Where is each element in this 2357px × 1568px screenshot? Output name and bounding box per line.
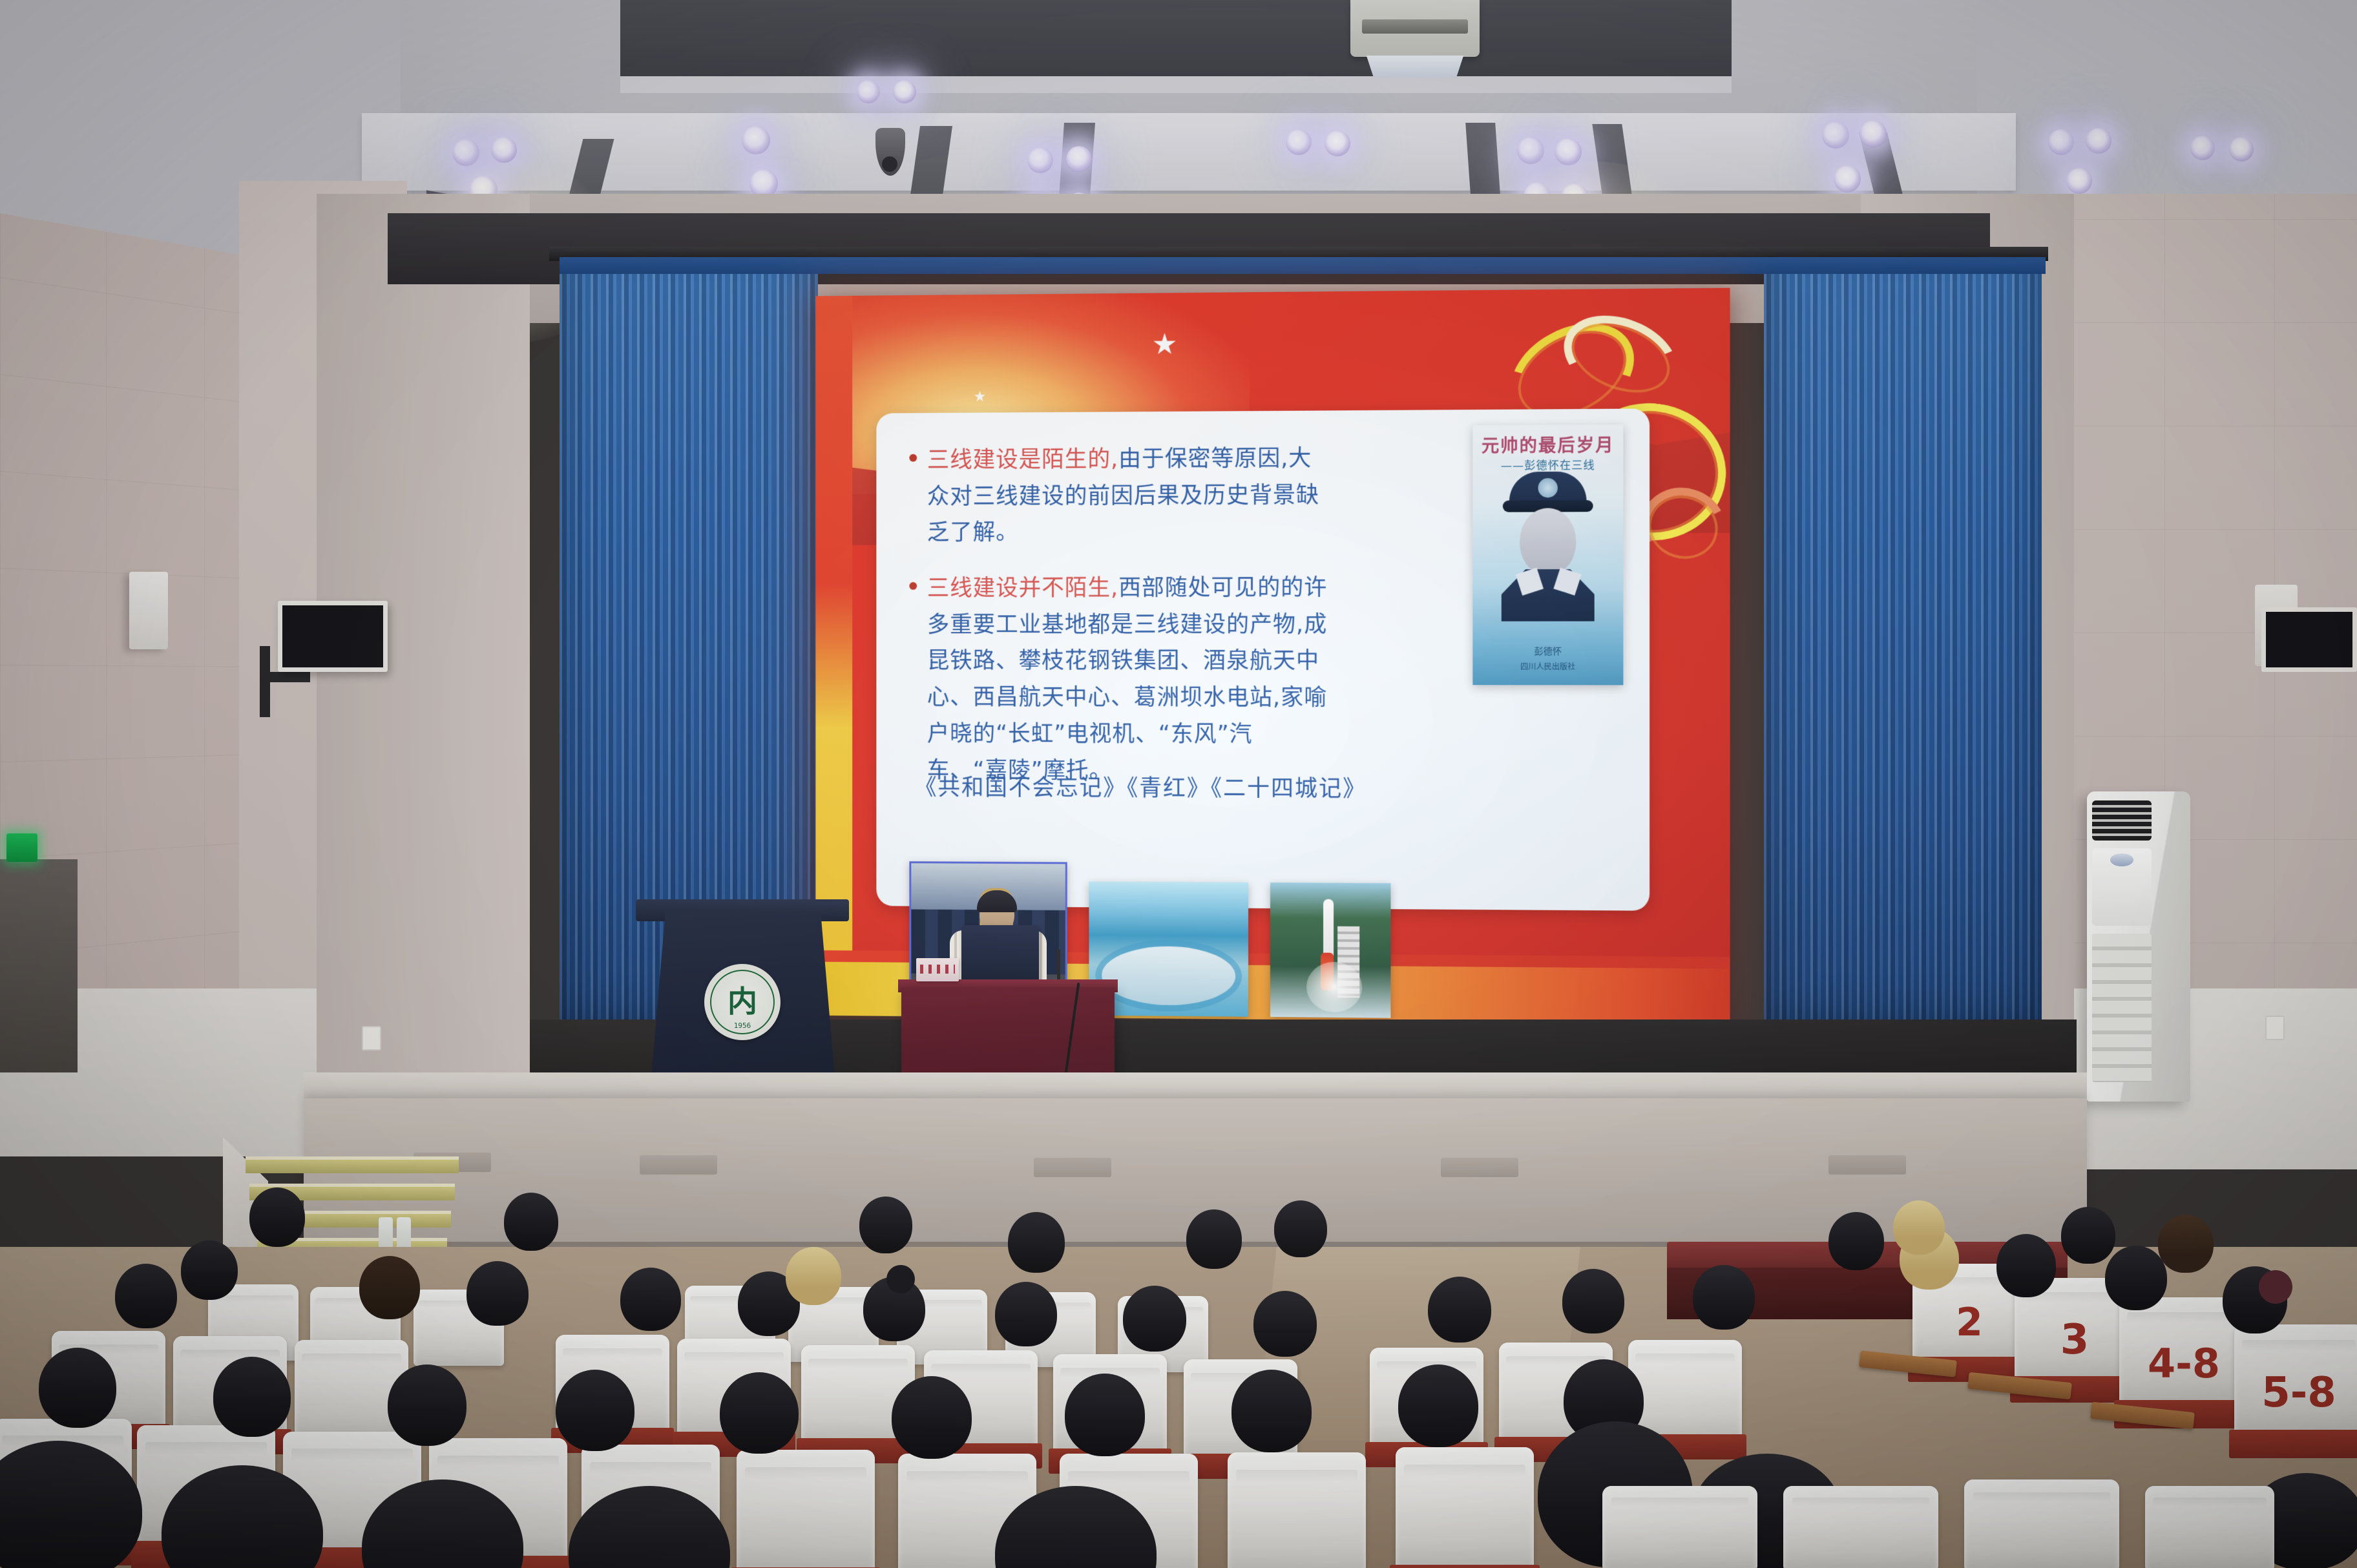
wall-socket[interactable] [2265, 1016, 2285, 1040]
exit-sign-icon [6, 833, 37, 862]
audience-head [1186, 1209, 1242, 1269]
emblem-character: 内 [704, 978, 780, 1021]
poster-portrait [1499, 472, 1597, 622]
ceiling-downlight [1027, 147, 1053, 173]
seat-number: 2 [1912, 1300, 2026, 1345]
bullet-2-text: 西部随处可见的的许多重要工业基地都是三线建设的产物,成昆铁路、攀枝花钢铁集团、酒… [927, 575, 1327, 784]
curtain-valance [560, 257, 2046, 274]
audience-head [859, 1197, 912, 1253]
audience-head [995, 1282, 1057, 1346]
audience-head [892, 1376, 972, 1459]
poster-subtitle: ——彭德怀在三线 [1472, 455, 1623, 472]
ceiling-projector [1350, 0, 1480, 57]
ceiling-downlight [893, 80, 916, 103]
presenter-laptop[interactable] [961, 925, 1039, 985]
ceiling-downlight [2190, 136, 2215, 160]
ceiling-downlight [2048, 129, 2074, 155]
projection-screen: 三线建设是陌生的,由于保密等原因,大众对三线建设的前因后果及历史背景缺乏了解。 … [815, 288, 1730, 1024]
audience-head [556, 1370, 634, 1451]
proscenium-left [317, 194, 530, 1156]
slide-bullet-list: 三线建设是陌生的,由于保密等原因,大众对三线建设的前因后果及历史背景缺乏了解。 … [909, 440, 1332, 809]
slide-film-list: 《共和国不会忘记》《青红》《二十四城记》 [914, 769, 1367, 803]
poster-caption: 彭德怀 [1472, 645, 1623, 658]
audience-head [2105, 1246, 2167, 1310]
seat[interactable] [1783, 1486, 1938, 1568]
ceiling-downlight [1822, 121, 1849, 149]
name-card [916, 958, 959, 981]
ceiling-downlight [1286, 129, 1312, 155]
ceiling-downlight [1834, 165, 1861, 193]
audience-head [1065, 1374, 1145, 1456]
ceiling-downlight [742, 126, 770, 154]
ceiling-downlight [1325, 131, 1350, 156]
wall-monitor [2261, 607, 2357, 672]
audience-head [1253, 1291, 1317, 1357]
side-doorway [0, 859, 78, 1072]
audience-head [1428, 1277, 1491, 1343]
audience-head [1123, 1286, 1186, 1352]
slide-book-poster: 元帅的最后岁月 ——彭德怀在三线 彭德怀 四川人民出版社 [1472, 424, 1623, 685]
audience-head [115, 1264, 177, 1328]
audience-head [1231, 1370, 1312, 1452]
audience-head [504, 1193, 558, 1251]
bullet-2-highlight: 三线建设并不陌生, [927, 576, 1118, 601]
ac-badge-icon [2110, 853, 2133, 866]
rocket-launch-photo [1270, 883, 1390, 1018]
hair-bun [2259, 1270, 2292, 1304]
audience-head [1693, 1265, 1755, 1330]
auditorium-photo: 三线建设是陌生的,由于保密等原因,大众对三线建设的前因后果及历史背景缺乏了解。 … [0, 0, 2357, 1568]
audience-head [1274, 1200, 1327, 1257]
audience-head [1398, 1364, 1478, 1447]
monitor-arm [265, 672, 310, 682]
ceiling-dark-band [620, 0, 1732, 78]
hair-bun [886, 1265, 915, 1293]
projector-lens [1363, 56, 1467, 78]
seat[interactable] [1602, 1486, 1757, 1568]
audience-head [786, 1247, 841, 1305]
ceiling-downlight [2066, 168, 2092, 194]
seat-number: 5-8 [2234, 1369, 2357, 1417]
ceiling-downlight [2229, 137, 2254, 162]
audience-head [39, 1348, 116, 1428]
audience-head [213, 1357, 291, 1437]
audience-head [2061, 1207, 2115, 1264]
audience-head [388, 1364, 466, 1446]
seat[interactable]: 5-8 [2234, 1324, 2357, 1434]
ceiling-band-trim [620, 76, 1732, 93]
ac-grille-icon [2092, 800, 2152, 841]
wall-socket[interactable] [362, 1026, 381, 1051]
audience-head [1008, 1212, 1065, 1273]
slide-bullet-item: 三线建设是陌生的,由于保密等原因,大众对三线建设的前因后果及历史背景缺乏了解。 [909, 440, 1332, 551]
wall-monitor [278, 601, 388, 672]
seat[interactable] [1964, 1479, 2119, 1568]
ceiling-downlight [1555, 138, 1582, 165]
slide-content-card: 三线建设是陌生的,由于保密等原因,大众对三线建设的前因后果及历史背景缺乏了解。 … [876, 408, 1650, 910]
bullet-dot-icon [909, 454, 917, 462]
slide-bullet-item: 三线建设并不陌生,西部随处可见的的许多重要工业基地都是三线建设的产物,成昆铁路、… [909, 570, 1332, 790]
seat[interactable] [1396, 1447, 1534, 1568]
audience-head [1996, 1234, 2056, 1297]
audience-head [1893, 1200, 1945, 1255]
seat[interactable] [1228, 1452, 1366, 1568]
bullet-dot-icon [909, 582, 917, 590]
audience-head [2158, 1215, 2214, 1273]
ceiling-downlight [1859, 120, 1887, 147]
audience-head [181, 1240, 238, 1300]
seat-number: 4-8 [2119, 1340, 2248, 1387]
audience-head [249, 1187, 305, 1247]
seat[interactable] [2145, 1486, 2274, 1568]
poster-title: 元帅的最后岁月 [1472, 431, 1623, 457]
seat[interactable] [737, 1450, 875, 1568]
ceiling-downlight [2086, 128, 2111, 154]
air-conditioner-unit[interactable] [2087, 791, 2190, 1102]
wall-speaker [129, 572, 168, 649]
ceiling-downlight [1066, 146, 1092, 172]
poster-publisher: 四川人民出版社 [1472, 661, 1623, 672]
audience-head [1828, 1212, 1884, 1270]
bullet-1-highlight: 三线建设是陌生的, [927, 446, 1118, 473]
seat[interactable] [1628, 1340, 1742, 1438]
seat-number: 3 [2015, 1316, 2135, 1364]
audience-head [359, 1256, 420, 1319]
university-emblem: 内 1956 [704, 964, 780, 1040]
ac-louvers [2092, 934, 2152, 1082]
audience-head [1562, 1269, 1624, 1333]
stage-curtain-right [1764, 257, 2042, 1052]
ceiling-downlight [491, 137, 517, 163]
ceiling-downlight [857, 80, 880, 103]
ceiling-downlight [452, 139, 479, 166]
emblem-year: 1956 [704, 1021, 780, 1030]
audience-head [720, 1372, 799, 1454]
ceiling-downlight [1517, 137, 1544, 164]
audience-head [620, 1268, 681, 1331]
audience-head [466, 1261, 529, 1326]
